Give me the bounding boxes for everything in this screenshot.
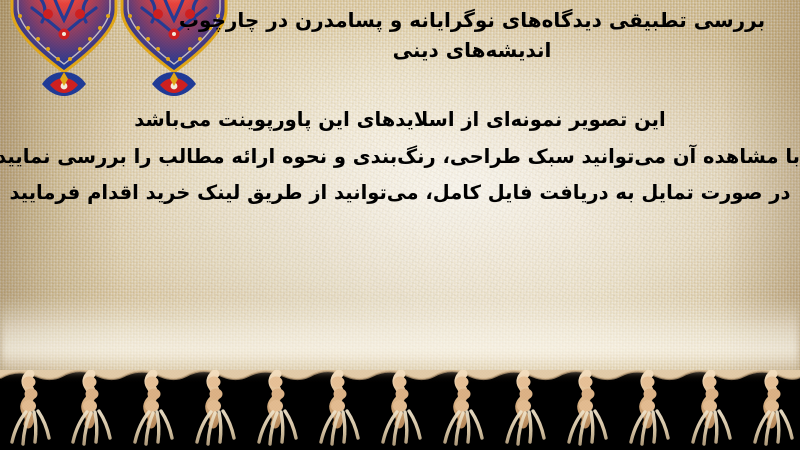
slide-body-line-3: در صورت تمایل به دریافت فایل کامل، می‌تو… (0, 183, 800, 203)
slide-title-line-2: اندیشه‌های دینی (172, 36, 772, 66)
slide-title: بررسی تطبیقی دیدگاه‌های نوگرایانه و پسام… (172, 6, 772, 65)
persian-illumination-medallion-icon (8, 0, 120, 107)
presentation-slide: بررسی تطبیقی دیدگاه‌های نوگرایانه و پسام… (0, 0, 800, 450)
slide-body-line-1: این تصویر نمونه‌ای از اسلایدهای این پاور… (0, 110, 800, 130)
carpet-knotted-fringe (0, 370, 800, 450)
slide-title-line-1: بررسی تطبیقی دیدگاه‌های نوگرایانه و پسام… (172, 6, 772, 36)
slide-body: این تصویر نمونه‌ای از اسلایدهای این پاور… (0, 110, 800, 203)
slide-body-line-2: با مشاهده آن می‌توانید سبک طراحی، رنگ‌بن… (0, 147, 800, 167)
